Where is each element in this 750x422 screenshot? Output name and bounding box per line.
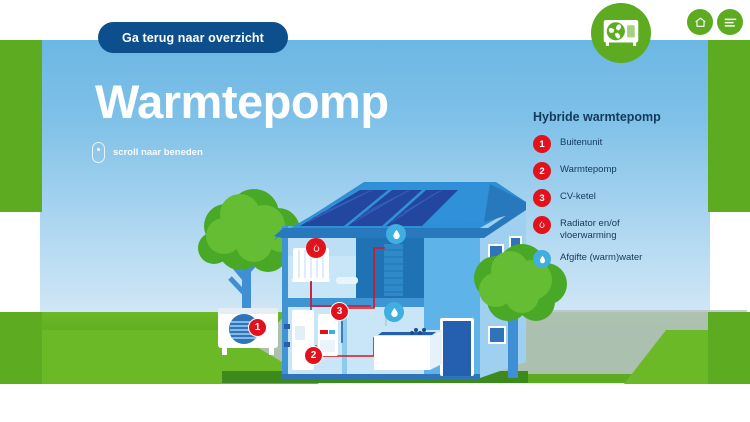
radiator-hotspot[interactable]: [306, 238, 326, 258]
cv-boiler-hotspot[interactable]: 3: [330, 302, 349, 321]
legend-item-label: Radiator en/of vloerwarming: [560, 216, 620, 241]
legend-badge-number: 1: [533, 135, 551, 153]
page-title: Warmtepomp: [95, 78, 389, 125]
outdoor-unit-hotspot[interactable]: 1: [248, 318, 267, 337]
shower-water-hotspot[interactable]: [386, 224, 406, 244]
legend-item-2[interactable]: 2Warmtepomp: [533, 162, 733, 180]
flame-icon: [311, 243, 322, 254]
scroll-hint-label: scroll naar beneden: [113, 147, 203, 159]
heat-pump-outdoor-unit-icon[interactable]: [591, 3, 651, 63]
decorative-bar-left-bottom: [0, 312, 42, 384]
water-drop-icon: [391, 228, 402, 241]
flame-icon: [533, 216, 551, 234]
page-root: 1 2 3 Ga terug naar overzicht: [0, 0, 750, 422]
legend-item-1[interactable]: 1Buitenunit: [533, 135, 733, 153]
decorative-bar-left-top: [0, 40, 42, 212]
legend-item-label: Warmtepomp: [560, 162, 617, 176]
legend-item-3[interactable]: 3CV-ketel: [533, 189, 733, 207]
water-drop-icon: [538, 254, 547, 265]
mouse-scroll-icon: [92, 142, 105, 163]
heat-pump-hotspot[interactable]: 2: [304, 346, 323, 365]
kitchen-water-hotspot[interactable]: [384, 302, 404, 322]
legend-badge-number: 3: [533, 189, 551, 207]
legend-item-label: Afgifte (warm)water: [560, 250, 642, 264]
legend-item-5[interactable]: Afgifte (warm)water: [533, 250, 733, 268]
flame-icon: [537, 220, 547, 230]
hamburger-menu-icon[interactable]: [717, 9, 743, 35]
sofa-ledge: [336, 277, 358, 284]
garage-door: [440, 318, 474, 376]
decorative-bar-right-bottom: [708, 312, 750, 384]
scroll-hint[interactable]: scroll naar beneden: [92, 142, 203, 163]
legend-item-label: Buitenunit: [560, 135, 602, 149]
legend-badge-number: 2: [533, 162, 551, 180]
legend-title: Hybride warmtepomp: [533, 110, 733, 124]
legend-item-label: CV-ketel: [560, 189, 596, 203]
home-icon[interactable]: [687, 9, 713, 35]
home-glyph: [694, 16, 707, 29]
menu-glyph: [724, 17, 737, 28]
water-drop-icon: [533, 250, 551, 268]
water-drop-icon: [389, 306, 400, 319]
back-to-overview-button[interactable]: Ga terug naar overzicht: [98, 22, 288, 53]
legend-item-4[interactable]: Radiator en/of vloerwarming: [533, 216, 733, 241]
heat-pump-unit-glyph: [602, 18, 640, 48]
shower-column: [384, 244, 403, 296]
legend-panel: Hybride warmtepomp 1Buitenunit2Warmtepom…: [533, 110, 733, 277]
legend-list: 1Buitenunit2Warmtepomp3CV-ketelRadiator …: [533, 135, 733, 268]
